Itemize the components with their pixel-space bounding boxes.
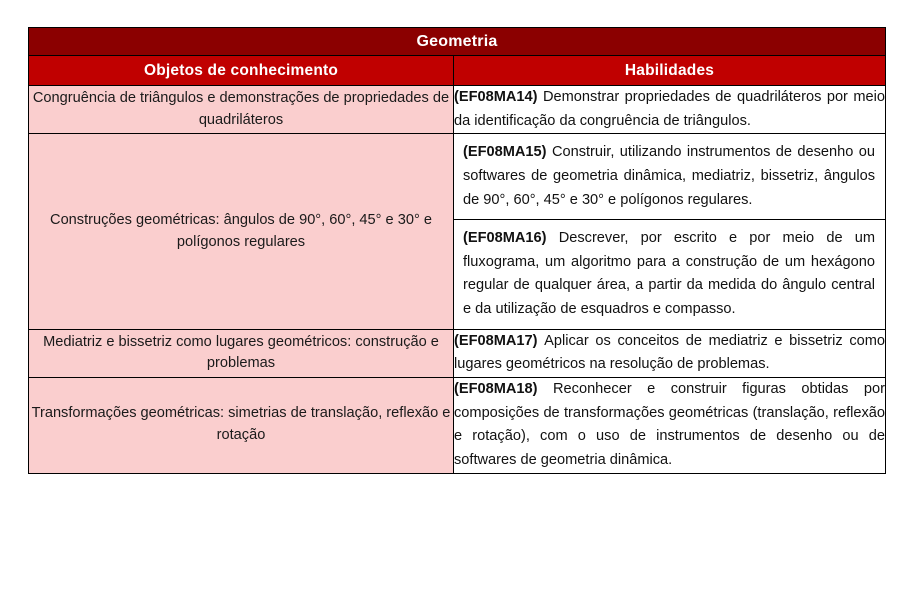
habilidade-code: (EF08MA17) bbox=[454, 333, 544, 349]
table-row: Mediatriz e bissetriz como lugares geomé… bbox=[29, 329, 886, 377]
habilidade-code: (EF08MA15) bbox=[463, 144, 552, 160]
habilidade-subrow: (EF08MA16) Descrever, por escrito e por … bbox=[454, 220, 885, 329]
objeto-cell: Congruência de triângulos e demonstraçõe… bbox=[29, 86, 454, 134]
habilidade-code: (EF08MA18) bbox=[454, 381, 553, 397]
habilidade-group-cell: (EF08MA15) Construir, utilizando instrum… bbox=[454, 134, 886, 329]
table-title: Geometria bbox=[29, 28, 886, 56]
geometria-skills-table: Geometria Objetos de conhecimento Habili… bbox=[28, 27, 886, 474]
table-row: Construções geométricas: ângulos de 90°,… bbox=[29, 134, 886, 329]
objeto-cell: Mediatriz e bissetriz como lugares geomé… bbox=[29, 329, 454, 377]
habilidade-cell: (EF08MA14) Demonstrar propriedades de qu… bbox=[454, 86, 886, 134]
habilidade-cell: (EF08MA16) Descrever, por escrito e por … bbox=[454, 220, 885, 329]
objeto-cell: Transformações geométricas: simetrias de… bbox=[29, 378, 454, 474]
habilidade-cell: (EF08MA15) Construir, utilizando instrum… bbox=[454, 134, 885, 219]
habilidade-code: (EF08MA16) bbox=[463, 230, 559, 246]
habilidade-subtable: (EF08MA15) Construir, utilizando instrum… bbox=[454, 134, 885, 328]
column-header-habilidades: Habilidades bbox=[454, 56, 886, 86]
objeto-cell: Construções geométricas: ângulos de 90°,… bbox=[29, 134, 454, 329]
bncc-table-container: Geometria Objetos de conhecimento Habili… bbox=[28, 27, 885, 474]
habilidade-cell: (EF08MA17) Aplicar os conceitos de media… bbox=[454, 329, 886, 377]
habilidade-cell: (EF08MA18) Reconhecer e construir figura… bbox=[454, 378, 886, 474]
table-title-row: Geometria bbox=[29, 28, 886, 56]
habilidade-code: (EF08MA14) bbox=[454, 89, 543, 105]
table-row: Congruência de triângulos e demonstraçõe… bbox=[29, 86, 886, 134]
table-column-header-row: Objetos de conhecimento Habilidades bbox=[29, 56, 886, 86]
table-header: Geometria Objetos de conhecimento Habili… bbox=[29, 28, 886, 86]
column-header-objetos: Objetos de conhecimento bbox=[29, 56, 454, 86]
page-root: Geometria Objetos de conhecimento Habili… bbox=[0, 0, 913, 612]
table-body: Congruência de triângulos e demonstraçõe… bbox=[29, 86, 886, 474]
table-row: Transformações geométricas: simetrias de… bbox=[29, 378, 886, 474]
habilidade-subrow: (EF08MA15) Construir, utilizando instrum… bbox=[454, 134, 885, 219]
